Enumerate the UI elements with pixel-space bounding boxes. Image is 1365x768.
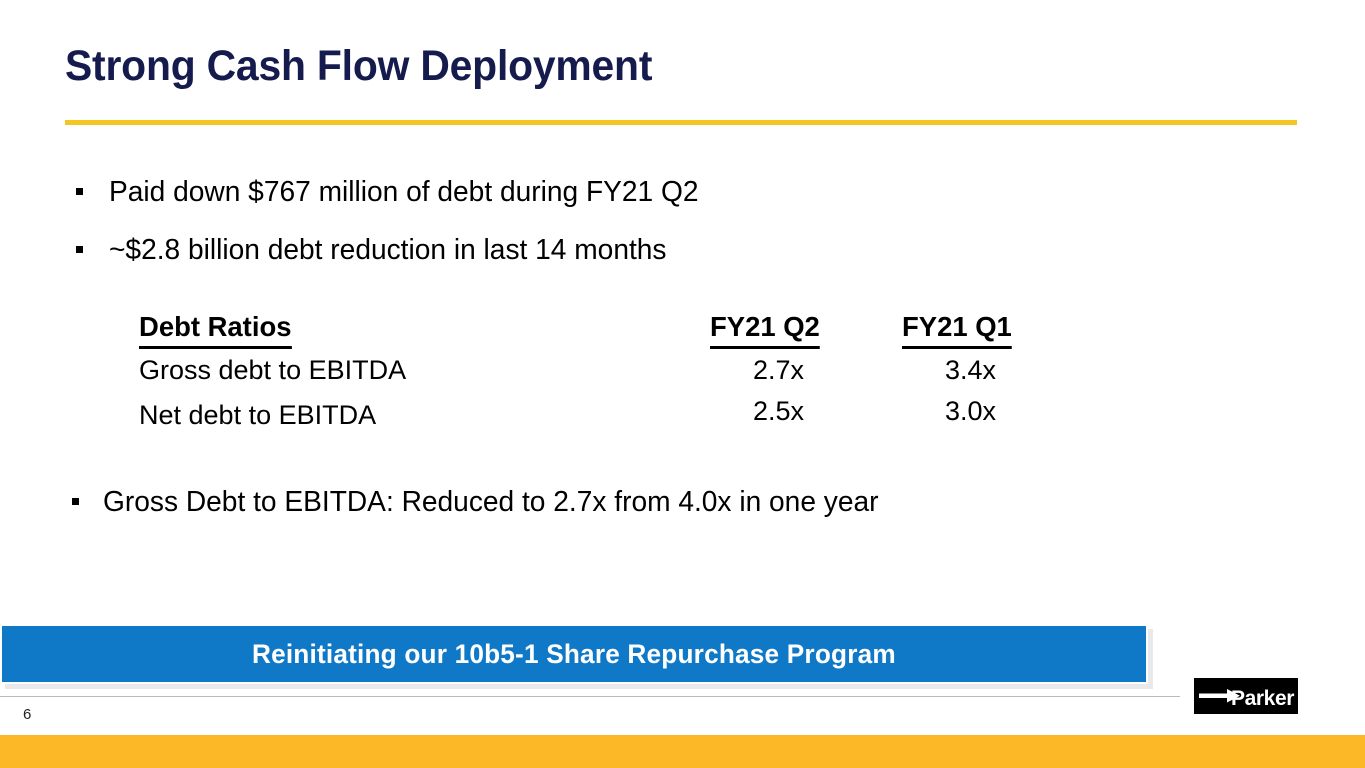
title-underline-rule	[65, 120, 1297, 125]
slide-canvas: Strong Cash Flow Deployment Paid down $7…	[0, 0, 1365, 768]
bullet-item-1-text: Paid down $767 million of debt during FY…	[109, 176, 699, 209]
page-number: 6	[23, 706, 31, 723]
bullet-item-3-text: Gross Debt to EBITDA: Reduced to 2.7x fr…	[103, 486, 878, 519]
page-title: Strong Cash Flow Deployment	[65, 42, 652, 91]
bottom-accent-bar	[0, 735, 1365, 768]
table-header-fy21-q2: FY21 Q2	[710, 311, 820, 349]
svg-text:Parker: Parker	[1231, 687, 1294, 710]
parker-logo-icon: Parker	[1194, 678, 1298, 714]
square-bullet-icon	[72, 498, 79, 505]
bullet-item-3: Gross Debt to EBITDA: Reduced to 2.7x fr…	[72, 486, 902, 519]
table-row-label-gross-debt: Gross debt to EBITDA	[139, 355, 406, 386]
table-cell-net-debt-fy21-q1: 3.0x	[902, 396, 1039, 427]
table-header-debt-ratios: Debt Ratios	[139, 311, 291, 349]
table-header-fy21-q1: FY21 Q1	[902, 311, 1012, 349]
bullet-item-1: Paid down $767 million of debt during FY…	[76, 176, 717, 209]
table-cell-net-debt-fy21-q2: 2.5x	[710, 396, 847, 427]
square-bullet-icon	[76, 246, 83, 253]
table-cell-gross-debt-fy21-q1: 3.4x	[902, 355, 1039, 386]
callout-banner-text: Reinitiating our 10b5-1 Share Repurchase…	[252, 639, 896, 670]
bullet-item-2: ~$2.8 billion debt reduction in last 14 …	[76, 234, 684, 267]
callout-banner: Reinitiating our 10b5-1 Share Repurchase…	[0, 624, 1148, 684]
table-row-label-net-debt: Net debt to EBITDA	[139, 400, 376, 431]
table-cell-gross-debt-fy21-q2: 2.7x	[710, 355, 847, 386]
footer-divider	[0, 696, 1180, 697]
square-bullet-icon	[76, 188, 83, 195]
parker-logo: Parker	[1194, 678, 1298, 714]
bullet-item-2-text: ~$2.8 billion debt reduction in last 14 …	[109, 234, 666, 267]
